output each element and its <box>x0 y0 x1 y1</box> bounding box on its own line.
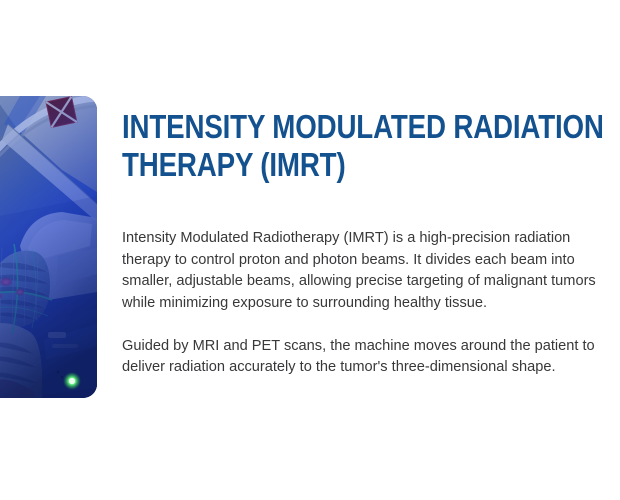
paragraph-1-line-2: therapy to control proton and photon bea… <box>122 250 620 272</box>
page-title-line-2: THERAPY (IMRT) <box>122 146 620 184</box>
paragraph-2-line-2: deliver radiation accurately to the tumo… <box>122 357 620 379</box>
body-copy: Intensity Modulated Radiotherapy (IMRT) … <box>122 228 620 379</box>
paragraph-2-line-1: Guided by MRI and PET scans, the machine… <box>122 336 620 358</box>
paragraph-1-line-3: smaller, adjustable beams, allowing prec… <box>122 271 620 293</box>
slide-root: INTENSITY MODULATED RADIATION THERAPY (I… <box>0 0 620 500</box>
paragraph-1-line-1: Intensity Modulated Radiotherapy (IMRT) … <box>122 228 620 250</box>
paragraph-2: Guided by MRI and PET scans, the machine… <box>122 336 620 379</box>
page-title: INTENSITY MODULATED RADIATION THERAPY (I… <box>122 108 620 184</box>
radiotherapy-linear-accelerator-photo <box>0 96 97 398</box>
paragraph-1: Intensity Modulated Radiotherapy (IMRT) … <box>122 228 620 314</box>
page-title-line-1: INTENSITY MODULATED RADIATION <box>122 108 620 146</box>
paragraph-1-line-4: while minimizing exposure to surrounding… <box>122 293 620 315</box>
headline-block: INTENSITY MODULATED RADIATION THERAPY (I… <box>122 108 620 184</box>
led-indicator <box>69 378 75 384</box>
photo-artwork <box>0 96 97 398</box>
